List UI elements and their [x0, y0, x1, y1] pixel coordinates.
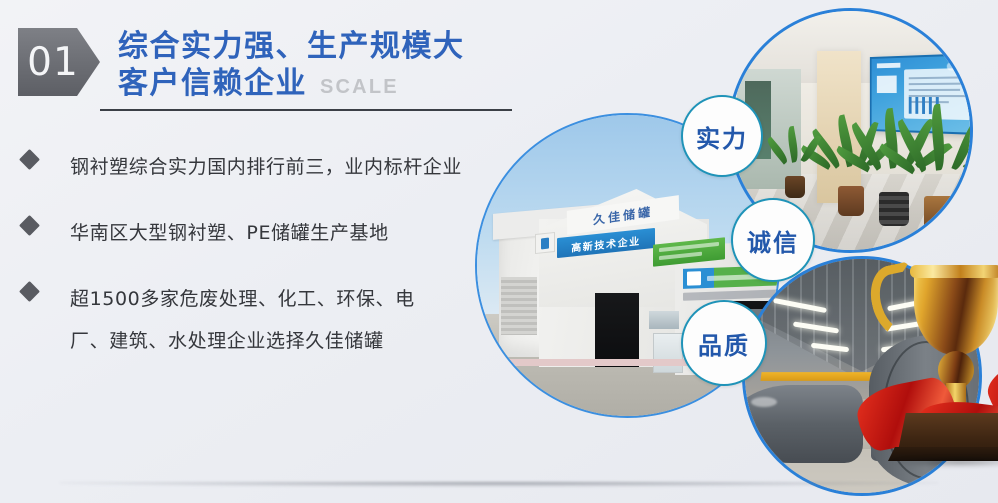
list-item-text: 超1500多家危废处理、化工、环保、电 厂、建筑、水处理企业选择久佳储罐 [70, 278, 415, 362]
badge-integrity-label: 诚信 [747, 223, 799, 258]
badge-strength-label: 实力 [696, 119, 748, 154]
page-title-line1: 综合实力强、生产规模大 [118, 28, 465, 65]
page-title-line2-row: 客户信赖企业 SCALE [118, 65, 465, 106]
badge-strength: 实力 [681, 95, 763, 177]
warehouse-door-left [595, 293, 639, 367]
trophy-cup [914, 269, 998, 355]
promo-banner: 01 综合实力强、生产规模大 客户信赖企业 SCALE 钢衬塑综合实力国内排行前… [0, 0, 998, 503]
list-item-text: 华南区大型钢衬塑、PE储罐生产基地 [70, 212, 389, 254]
page-title-line2: 客户信赖企业 [118, 65, 307, 102]
list-item: 超1500多家危废处理、化工、环保、电 厂、建筑、水处理企业选择久佳储罐 [22, 278, 522, 362]
trophy-rim [910, 265, 998, 278]
page-title-english: SCALE [320, 69, 399, 106]
list-item-text: 钢衬塑综合实力国内排行前三，业内标杆企业 [70, 146, 462, 188]
roller-shutter [501, 277, 537, 335]
list-item: 华南区大型钢衬塑、PE储罐生产基地 [22, 212, 522, 254]
badge-quality-label: 品质 [698, 326, 750, 361]
trophy-shadow [892, 457, 998, 467]
photo-collage: 久佳储罐 高新技术企业 [450, 0, 998, 503]
badge-quality: 品质 [681, 300, 767, 386]
potted-plant [907, 128, 973, 232]
window [649, 311, 679, 329]
wall-stripe [499, 359, 689, 366]
section-header: 01 综合实力强、生产规模大 客户信赖企业 SCALE [18, 28, 465, 106]
bottom-shadow-line [60, 482, 938, 487]
section-number-badge: 01 [18, 28, 100, 96]
potted-plant [775, 138, 815, 198]
feature-list: 钢衬塑综合实力国内排行前三，业内标杆企业 华南区大型钢衬塑、PE储罐生产基地 超… [22, 146, 522, 386]
glass-entry [653, 333, 683, 373]
storage-tank-left [742, 385, 863, 463]
badge-integrity: 诚信 [731, 198, 815, 282]
section-number: 01 [27, 40, 79, 85]
list-item: 钢衬塑综合实力国内排行前三，业内标杆企业 [22, 146, 522, 188]
title-block: 综合实力强、生产规模大 客户信赖企业 SCALE [118, 28, 465, 106]
diamond-bullet-icon [19, 215, 40, 236]
diamond-bullet-icon [19, 281, 40, 302]
company-logo-icon [535, 232, 555, 254]
trophy-illustration [862, 243, 998, 468]
factory-name-text: 久佳储罐 [593, 202, 653, 227]
diamond-bullet-icon [19, 149, 40, 170]
